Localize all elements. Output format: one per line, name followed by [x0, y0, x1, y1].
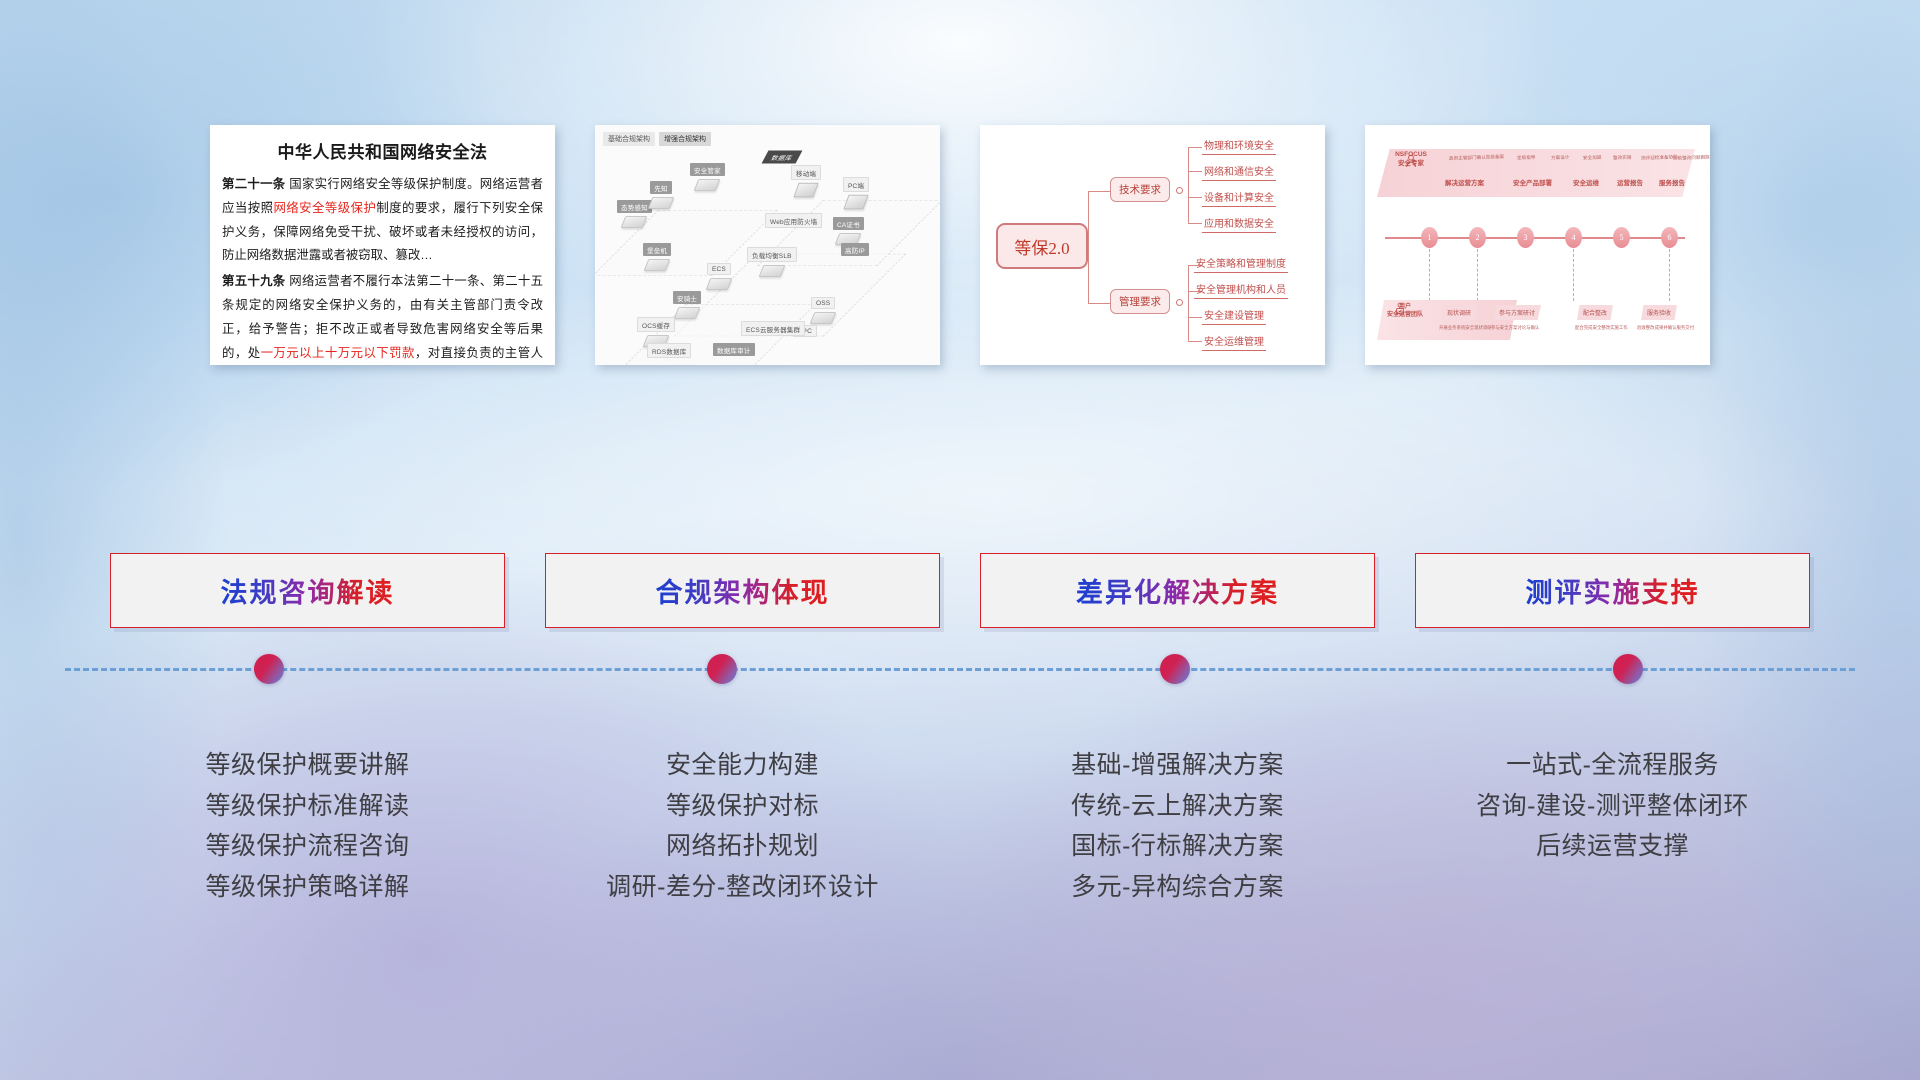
process-step[interactable]: 3 [1517, 227, 1534, 248]
expert-brand: NSFOCUS [1383, 151, 1439, 160]
detail-list-assessment-support: 一站式-全流程服务 咨询-建设-测评整体闭环 后续运营支撑 [1415, 745, 1810, 907]
timeline [0, 548, 1920, 688]
card-cybersecurity-law[interactable]: 中华人民共和国网络安全法 第二十一条 国家实行网络安全等级保护制度。网络运营者应… [210, 125, 555, 365]
node-security-butler: 安全管家 [690, 163, 725, 192]
list-item: 咨询-建设-测评整体闭环 [1415, 786, 1810, 827]
mindmap-leaf: 物理和环境安全 [1202, 137, 1276, 155]
tab-basic-architecture[interactable]: 基础合规架构 [603, 132, 655, 146]
timeline-dot-3[interactable] [1160, 654, 1190, 684]
list-item: 基础-增强解决方案 [980, 745, 1375, 786]
expert-role: 安全专家 [1383, 160, 1439, 169]
process-top-label: 定级指导 [1517, 155, 1536, 162]
process-bottom-tag: 配合整改 [1577, 305, 1613, 320]
process-step[interactable]: 4 [1565, 227, 1582, 248]
process-mid-label: 运营报告 [1617, 177, 1643, 187]
mindmap-leaf: 网络和通信安全 [1202, 163, 1276, 181]
process-mid-label: 安全运维 [1573, 177, 1599, 187]
list-item: 网络拓扑规划 [545, 826, 940, 867]
node-anqishi: 安骑士 [673, 291, 701, 320]
node-database-label: 数据库 [762, 151, 803, 164]
detail-list-regulation-consulting: 等级保护概要讲解 等级保护标准解读 等级保护流程咨询 等级保护策略详解 [110, 745, 505, 907]
timeline-dot-1[interactable] [254, 654, 284, 684]
mindmap-branch-technical: 技术要求 [1110, 177, 1170, 202]
mindmap-toggle-management[interactable] [1176, 299, 1183, 306]
process-mid-label: 解决运营方案 [1445, 177, 1484, 187]
mindmap-leaf: 安全建设管理 [1202, 307, 1266, 325]
process-step[interactable]: 5 [1613, 227, 1630, 248]
slide-stage: 中华人民共和国网络安全法 第二十一条 国家实行网络安全等级保护制度。网络运营者应… [0, 0, 1920, 1080]
process-bottom-sub: 验收整改成果并确认服务交付 [1637, 325, 1694, 331]
process-top-label: 协助整改问题跟踪闭环 [1673, 154, 1710, 162]
timeline-dot-2[interactable] [707, 654, 737, 684]
card-compliance-architecture[interactable]: 基础合规架构 增强合规架构 数据库 态势感知 先知 安全管家 堡垒机 ECS 安… [595, 125, 940, 365]
architecture-diagram: 基础合规架构 增强合规架构 数据库 态势感知 先知 安全管家 堡垒机 ECS 安… [595, 125, 940, 365]
mindmap: 等保2.0 技术要求 管理要求 物理和环境安全 网络和通信安全 设备和计算安全 … [980, 125, 1325, 365]
architecture-tabs: 基础合规架构 增强合规架构 [603, 132, 711, 146]
law-highlight: 一万元以上十万元以下罚款 [261, 346, 415, 360]
node-bastion-host: 堡垒机 [643, 243, 671, 272]
mindmap-leaf: 安全运维管理 [1202, 333, 1266, 351]
detail-lists-row: 等级保护概要讲解 等级保护标准解读 等级保护流程咨询 等级保护策略详解 安全能力… [0, 745, 1920, 907]
process-top-label: 安全加固 [1583, 155, 1602, 162]
mindmap-leaf: 安全管理机构和人员 [1194, 281, 1288, 299]
process-bottom-sub: 配合完成安全整改实施工作 [1575, 325, 1628, 331]
law-body: 第二十一条 国家实行网络安全等级保护制度。网络运营者应当按照网络安全等级保护制度… [210, 163, 555, 365]
process-mid-label: 服务报告 [1659, 177, 1685, 187]
process-bottom-sub: 参与安全方案讨论与确认 [1491, 325, 1539, 331]
list-item: 一站式-全流程服务 [1415, 745, 1810, 786]
law-highlight: 网络安全等级保护 [273, 201, 376, 215]
list-item: 等级保护流程咨询 [110, 826, 505, 867]
process-user-label: 用户 安全运营团队 [1383, 303, 1427, 319]
mindmap-leaf: 安全策略和管理制度 [1194, 255, 1288, 273]
list-item: 多元-异构综合方案 [980, 867, 1375, 908]
process-bottom-sub: 开展业务系统安全现状调研 [1439, 325, 1492, 331]
list-item: 等级保护策略详解 [110, 867, 505, 908]
process-top-label: 整改实施 [1613, 155, 1632, 162]
card-assessment-process[interactable]: NSFOCUS 安全专家 政府主管部门确认定级备案 定级指导 方案设计 安全加固… [1365, 125, 1710, 365]
process-bottom-tag: 参与方案研讨 [1493, 305, 1541, 320]
node-oss: OSS [811, 297, 835, 325]
process-bottom-tag: 服务验收 [1641, 305, 1677, 320]
list-item: 安全能力构建 [545, 745, 940, 786]
process-top-label: 方案设计 [1551, 155, 1570, 162]
node-ecs: ECS [707, 263, 731, 291]
card-mindmap-mlps[interactable]: 等保2.0 技术要求 管理要求 物理和环境安全 网络和通信安全 设备和计算安全 … [980, 125, 1325, 365]
node-rds-database: RDS数据库 [647, 343, 691, 358]
node-load-balancer: 负载均衡SLB [747, 247, 797, 278]
list-item: 等级保护标准解读 [110, 786, 505, 827]
detail-list-differentiated-solutions: 基础-增强解决方案 传统-云上解决方案 国标-行标解决方案 多元-异构综合方案 [980, 745, 1375, 907]
law-paragraph: 第五十九条 网络运营者不履行本法第二十一条、第二十五条规定的网络安全保护义务的，… [222, 270, 543, 365]
node-pc-client: PC端 [843, 177, 869, 210]
preview-cards-row: 中华人民共和国网络安全法 第二十一条 国家实行网络安全等级保护制度。网络运营者应… [0, 125, 1920, 365]
mindmap-leaf: 应用和数据安全 [1202, 215, 1276, 233]
mindmap-branch-management: 管理要求 [1110, 289, 1170, 314]
user-team: 安全运营团队 [1383, 311, 1427, 319]
list-item: 后续运营支撑 [1415, 826, 1810, 867]
user-role: 用户 [1383, 303, 1427, 311]
node-xianzhi: 先知 [650, 181, 672, 210]
law-article-number: 第五十九条 [222, 274, 286, 288]
law-article-number: 第二十一条 [222, 177, 286, 191]
list-item: 传统-云上解决方案 [980, 786, 1375, 827]
list-item: 等级保护概要讲解 [110, 745, 505, 786]
timeline-dot-4[interactable] [1613, 654, 1643, 684]
node-ecs-cluster: ECS云服务器集群 [741, 321, 805, 336]
process-expert-label: NSFOCUS 安全专家 [1383, 151, 1439, 169]
mindmap-root: 等保2.0 [996, 223, 1088, 269]
mindmap-toggle-technical[interactable] [1176, 187, 1183, 194]
node-anti-ddos-ip: 高防IP [841, 243, 869, 256]
process-diagram: NSFOCUS 安全专家 政府主管部门确认定级备案 定级指导 方案设计 安全加固… [1365, 125, 1710, 365]
process-step[interactable]: 2 [1469, 227, 1486, 248]
node-mobile-client: 移动端 [791, 165, 821, 198]
list-item: 等级保护对标 [545, 786, 940, 827]
timeline-dashed-line [65, 668, 1855, 671]
node-ca-certificate: CA证书 [833, 217, 864, 246]
list-item: 国标-行标解决方案 [980, 826, 1375, 867]
process-step[interactable]: 1 [1421, 227, 1438, 248]
law-paragraph: 第二十一条 国家实行网络安全等级保护制度。网络运营者应当按照网络安全等级保护制度… [222, 173, 543, 268]
process-step[interactable]: 6 [1661, 227, 1678, 248]
law-title: 中华人民共和国网络安全法 [210, 138, 555, 163]
tab-enhanced-architecture[interactable]: 增强合规架构 [659, 132, 711, 146]
list-item: 调研-差分-整改闭环设计 [545, 867, 940, 908]
detail-list-compliance-architecture: 安全能力构建 等级保护对标 网络拓扑规划 调研-差分-整改闭环设计 [545, 745, 940, 907]
node-waf: Web应用防火墙 [765, 213, 822, 228]
mindmap-leaf: 设备和计算安全 [1202, 189, 1276, 207]
node-situational-awareness: 态势感知 [617, 200, 652, 229]
process-mid-label: 安全产品部署 [1513, 177, 1552, 187]
node-database-audit: 数据库审计 [713, 343, 755, 356]
process-bottom-tag: 现状调研 [1441, 305, 1477, 320]
